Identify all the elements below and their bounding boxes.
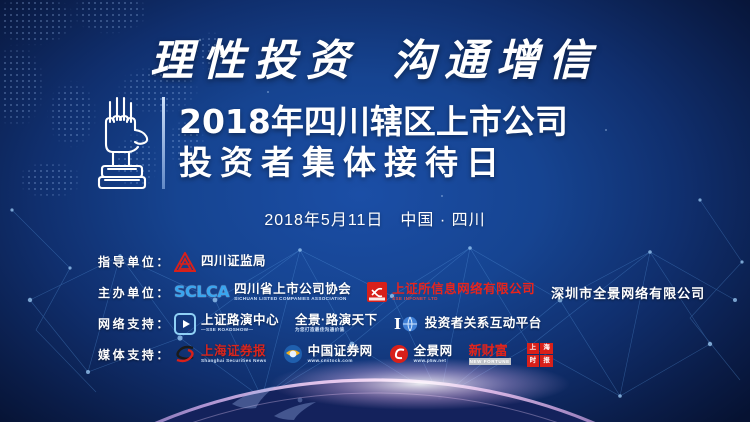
logo-p5w-company-name: 深圳市全景网络有限公司 [551,283,705,302]
logo-p5w[interactable]: 全景网 www.p5w.net [389,344,453,365]
logo-p5w-url: www.p5w.net [414,358,453,365]
logo-sclca-name: 四川省上市公司协会 [234,282,351,296]
logo-sse-roadshow-name-en: —SSE ROADSHOW— [201,327,279,334]
title-line-2: 投资者集体接待日 [179,144,568,183]
ir-globe-icon: I [394,315,420,333]
logo-cnstock[interactable]: 中国证券网 www.cnstock.com [283,344,373,365]
logo-new-fortune[interactable]: 新财富 NEW FORTUNE [469,344,511,366]
logo-cnstock-url: www.cnstock.com [308,358,373,365]
logo-sclca-text: 四川省上市公司协会 SICHUAN LISTED COMPANIES ASSOC… [234,282,351,303]
credit-items-media: 上海证券报 Shanghai Securities News 中国证券网 www… [174,343,569,367]
sse-infonet-logo-icon [367,282,387,302]
logo-ssn-name-en: Shanghai Securities News [201,358,267,365]
logo-p5w-roadshow-tagline: 为您打造最佳沟通价值 [295,327,378,334]
logo-new-fortune-name: 新财富 [469,344,511,358]
slogan-right: 沟通增信 [392,36,600,86]
date-location-line: 2018年5月11日 中国 · 四川 [0,206,750,230]
seal-char-3: 时 [527,355,539,366]
seal-char-1: 上 [527,343,539,354]
logo-p5w-roadshow-text: 全景·路演天下 为您打造最佳沟通价值 [295,313,378,334]
credit-items-network: 上证路演中心 —SSE ROADSHOW— 全景·路演天下 为您打造最佳沟通价值… [174,313,558,335]
poster-slogan: 理性投资沟通增信 [0,26,750,88]
logo-csrc-sichuan[interactable]: 四川证监局 [174,252,266,272]
logo-red-seal[interactable]: 上 海 时 报 [527,343,553,367]
slogan-left: 理性投资 [150,36,358,86]
credit-label-host: 主办单位： [98,284,174,301]
logo-sse-infonet-name: 上证所信息网络有限公司 [392,282,535,296]
logo-p5w-text: 全景网 www.p5w.net [414,344,453,365]
logo-ir-platform-name: 投资者关系互动平台 [425,316,542,330]
credit-row-guidance: 指导单位： 四川证监局 [98,246,698,277]
credit-row-host: 主办单位： SCLCA 四川省上市公司协会 SICHUAN LISTED COM… [98,277,698,308]
logo-new-fortune-text: 新财富 NEW FORTUNE [469,344,511,366]
logo-new-fortune-name-en: NEW FORTUNE [469,358,511,365]
logo-ssn-text: 上海证券报 Shanghai Securities News [201,344,267,365]
seal-char-4: 报 [540,355,552,366]
cnstock-globe-icon [283,344,303,364]
title-block: 2018年四川辖区上市公司 投资者集体接待日 [96,92,568,194]
csrc-sichuan-emblem-icon [174,252,196,272]
title-text-group: 2018年四川辖区上市公司 投资者集体接待日 [179,103,568,183]
credit-row-network: 网络支持： 上证路演中心 —SSE ROADSHOW— 全景·路演天下 [98,308,698,339]
title-divider-rule [162,97,165,189]
logo-p5w-roadshow[interactable]: 全景·路演天下 为您打造最佳沟通价值 [295,313,378,334]
logo-sse-infonet-text: 上证所信息网络有限公司 SSE INFONET LTD [392,282,535,303]
p5w-swirl-icon [389,344,409,364]
logo-sse-roadshow[interactable]: 上证路演中心 —SSE ROADSHOW— [174,313,279,335]
seal-char-2: 海 [540,343,552,354]
credit-label-media: 媒体支持： [98,346,174,363]
red-seal-icon: 上 海 时 报 [527,343,553,367]
sclca-wordmark-icon: SCLCA [174,284,229,300]
credits-block: 指导单位： 四川证监局 主办单位： SCLCA [98,246,698,370]
hand-on-books-icon [96,92,154,194]
logo-sclca[interactable]: SCLCA 四川省上市公司协会 SICHUAN LISTED COMPANIES… [174,282,351,303]
logo-ir-platform[interactable]: I 投资者关系互动平台 [394,315,542,333]
logo-p5w-company[interactable]: 深圳市全景网络有限公司 [551,283,705,302]
poster-canvas: 理性投资沟通增信 2018年四川辖区上市公司 投资者集体接待日 [0,0,750,422]
svg-text:I: I [394,315,401,333]
logo-sse-infonet[interactable]: 上证所信息网络有限公司 SSE INFONET LTD [367,282,535,303]
shanghai-securities-news-icon [174,344,196,364]
logo-sse-roadshow-name: 上证路演中心 [201,313,279,327]
logo-cnstock-name: 中国证券网 [308,344,373,358]
logo-sse-infonet-name-en: SSE INFONET LTD [392,296,535,303]
logo-p5w-roadshow-name: 全景·路演天下 [295,313,378,327]
logo-csrc-sichuan-text: 四川证监局 [201,254,266,268]
credit-label-guidance: 指导单位： [98,253,174,270]
logo-ssn-name: 上海证券报 [201,344,267,358]
credit-items-host: SCLCA 四川省上市公司协会 SICHUAN LISTED COMPANIES… [174,282,721,303]
sse-roadshow-play-icon [174,313,196,335]
logo-sse-roadshow-text: 上证路演中心 —SSE ROADSHOW— [201,313,279,334]
logo-csrc-sichuan-name: 四川证监局 [201,254,266,268]
logo-p5w-name: 全景网 [414,344,453,358]
title-line-1: 2018年四川辖区上市公司 [179,103,568,142]
logo-sclca-name-en: SICHUAN LISTED COMPANIES ASSOCIATION [234,296,351,303]
logo-ir-platform-text: 投资者关系互动平台 [425,316,542,330]
logo-shanghai-securities-news[interactable]: 上海证券报 Shanghai Securities News [174,344,267,365]
credit-label-network: 网络支持： [98,315,174,332]
logo-cnstock-text: 中国证券网 www.cnstock.com [308,344,373,365]
credit-items-guidance: 四川证监局 [174,252,282,272]
credit-row-media: 媒体支持： 上海证券报 Shanghai Securities News [98,339,698,370]
